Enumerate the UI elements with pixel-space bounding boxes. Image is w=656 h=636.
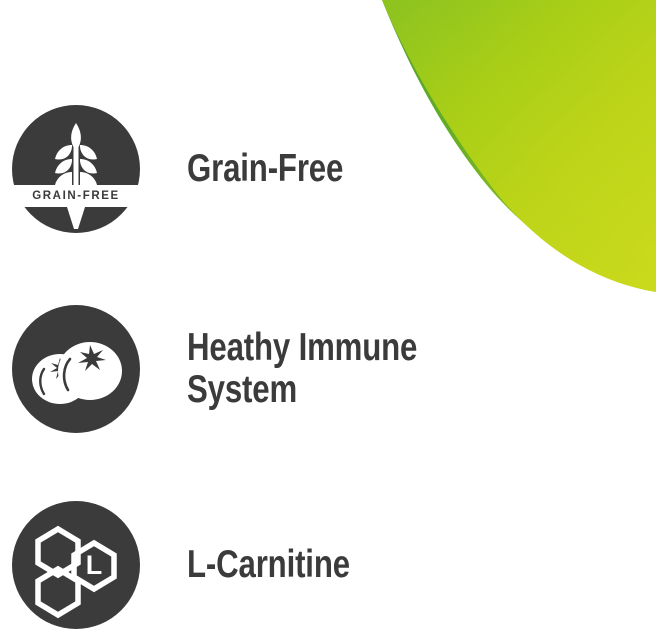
feature-label-grain-free: Grain-Free [187,148,343,190]
feature-row-lcarnitine: L L-Carnitine [0,500,656,630]
tomato-right [58,342,122,400]
hexagon-letter-l: L [72,545,116,585]
feature-label-immune: Heathy Immune System [187,327,417,411]
feature-row-immune: Heathy Immune System [0,304,656,434]
feature-label-lcarnitine: L-Carnitine [187,544,350,586]
hexagon-molecule-icon: L [12,501,140,629]
feature-highlights-panel: GRAIN-FREE Grain-Free [0,0,656,636]
grain-free-badge-icon: GRAIN-FREE [12,105,140,233]
feature-row-grain-free: GRAIN-FREE Grain-Free [0,104,656,234]
tomatoes-icon [12,305,140,433]
grain-free-band-label: GRAIN-FREE [12,185,140,207]
